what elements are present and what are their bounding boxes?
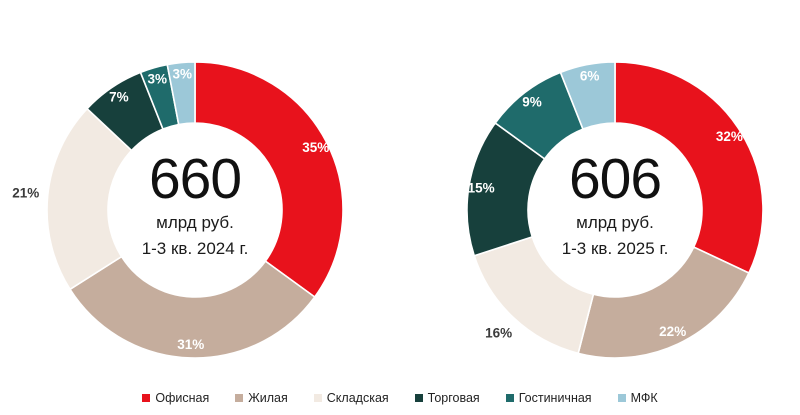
legend-swatch-icon <box>314 394 322 402</box>
legend-item-label: Гостиничная <box>519 391 592 405</box>
donut-slice[interactable] <box>615 62 763 273</box>
center-unit-2025: млрд руб. <box>505 210 725 236</box>
legend-swatch-icon <box>142 394 150 402</box>
legend-swatch-icon <box>506 394 514 402</box>
donut-svg: 35%31%21%7%3%3% 32%22%16%15%9%6% <box>0 0 800 415</box>
slice-percentage-label: 16% <box>485 325 512 340</box>
legend-item-label: Жилая <box>248 391 288 405</box>
legend-item-label: МФК <box>631 391 658 405</box>
legend-item[interactable]: Жилая <box>235 391 288 405</box>
legend-item-label: Офисная <box>155 391 209 405</box>
legend-item-label: Торговая <box>428 391 480 405</box>
legend-item-label: Складская <box>327 391 389 405</box>
legend-item[interactable]: Офисная <box>142 391 209 405</box>
legend-swatch-icon <box>618 394 626 402</box>
legend-swatch-icon <box>235 394 243 402</box>
donut-slice[interactable] <box>195 62 343 297</box>
legend-item[interactable]: Торговая <box>415 391 480 405</box>
donut-chart-2024 <box>47 62 343 358</box>
chart-canvas: 35%31%21%7%3%3% 32%22%16%15%9%6% 660 млр… <box>0 0 800 415</box>
legend-swatch-icon <box>415 394 423 402</box>
donut-slice[interactable] <box>70 257 315 358</box>
slice-percentage-label: 21% <box>12 186 39 201</box>
donut-slice[interactable] <box>474 237 593 353</box>
legend-item[interactable]: Складская <box>314 391 389 405</box>
chart-legend: ОфиснаяЖилаяСкладскаяТорговаяГостиничная… <box>0 391 800 405</box>
legend-item[interactable]: Гостиничная <box>506 391 592 405</box>
donut-chart-2025 <box>467 62 763 358</box>
donut-slice[interactable] <box>578 247 749 358</box>
donut-charts-layer: 35%31%21%7%3%3% 32%22%16%15%9%6% <box>0 0 800 415</box>
center-unit-2024: млрд руб. <box>85 210 305 236</box>
legend-item[interactable]: МФК <box>618 391 658 405</box>
